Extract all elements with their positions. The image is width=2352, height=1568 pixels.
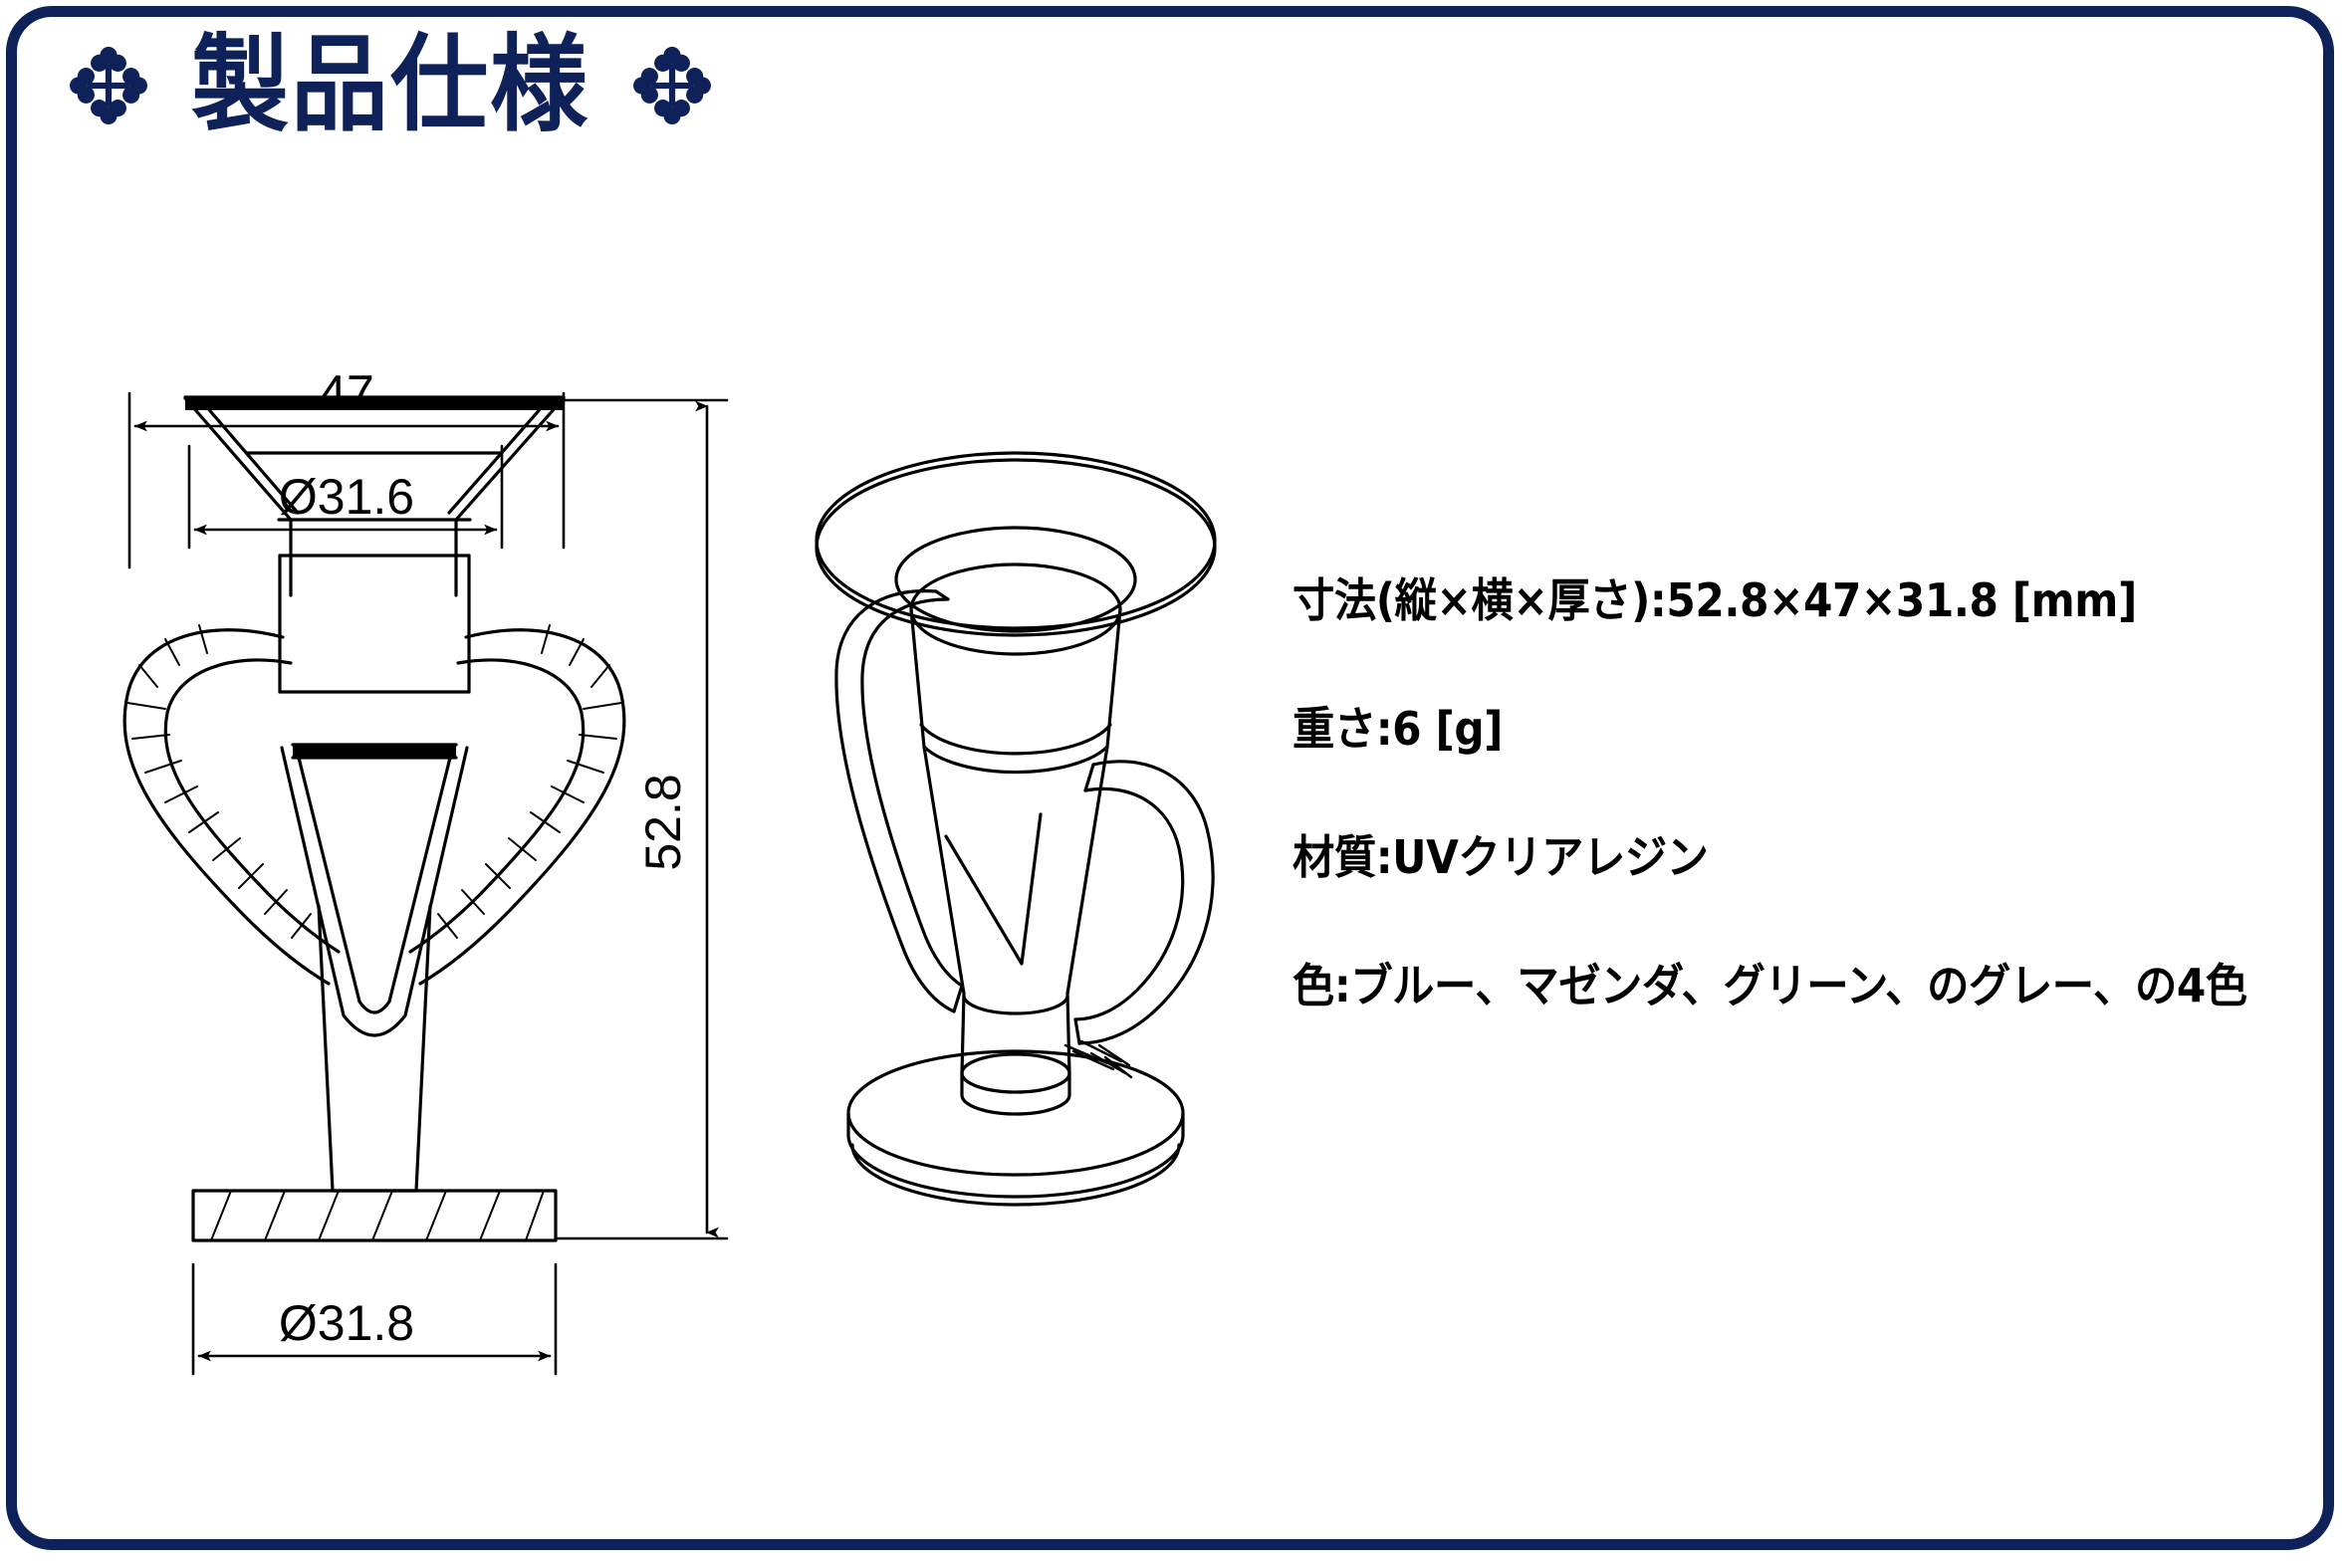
- dimension-label-overall-width: 47: [319, 365, 374, 421]
- cross-botonee-ornament-left: [70, 47, 147, 124]
- spec-item-color: 色:ブルー、マゼンダ、グリーン、のグレー、の4色: [1293, 963, 2218, 1008]
- spec-item-material: 材質:UVクリアレジン: [1293, 834, 2218, 880]
- page-title: 製品仕様: [191, 33, 589, 138]
- specification-list: 寸法(縦×横×厚さ):52.8×47×31.8 [mm] 重さ:6 [g] 材質…: [1293, 577, 2298, 1008]
- spec-item-weight: 重さ:6 [g]: [1293, 706, 2218, 752]
- cross-botonee-ornament-right: [633, 47, 711, 124]
- dimension-label-base-diameter: Ø31.8: [279, 1295, 414, 1351]
- spec-item-dimensions: 寸法(縦×横×厚さ):52.8×47×31.8 [mm]: [1293, 577, 2218, 623]
- product-spec-page: 製品仕様: [0, 0, 2352, 1568]
- trophy-cup-isometric-view: [817, 453, 1215, 1205]
- dimension-label-overall-height: 52.8: [635, 774, 691, 870]
- page-header: 製品仕様: [70, 26, 711, 145]
- dimension-label-rim-diameter: Ø31.6: [279, 469, 414, 525]
